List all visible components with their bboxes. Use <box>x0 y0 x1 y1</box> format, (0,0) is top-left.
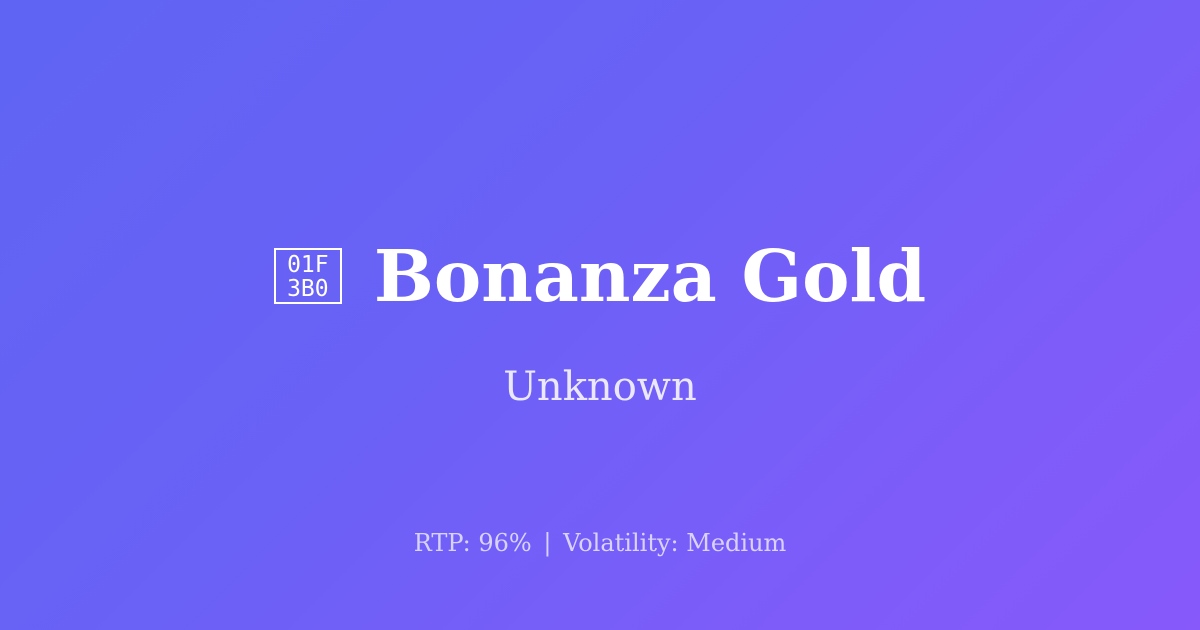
tofu-codepoint-line-2: 3B0 <box>287 277 329 301</box>
volatility-value: Medium <box>686 529 786 557</box>
title-row: 01F 3B0 Bonanza Gold <box>0 236 1200 316</box>
rtp-value: 96% <box>478 529 531 557</box>
game-stats: RTP: 96% | Volatility: Medium <box>0 528 1200 558</box>
volatility-label: Volatility: <box>563 529 679 557</box>
slot-machine-icon: 01F 3B0 <box>274 248 342 304</box>
tofu-codepoint-line-1: 01F <box>287 253 329 277</box>
page-title: Bonanza Gold <box>374 237 926 315</box>
rtp-label: RTP: <box>414 529 471 557</box>
stats-separator: | <box>539 529 555 557</box>
game-og-card: 01F 3B0 Bonanza Gold Unknown RTP: 96% | … <box>0 0 1200 630</box>
provider-name: Unknown <box>0 362 1200 412</box>
